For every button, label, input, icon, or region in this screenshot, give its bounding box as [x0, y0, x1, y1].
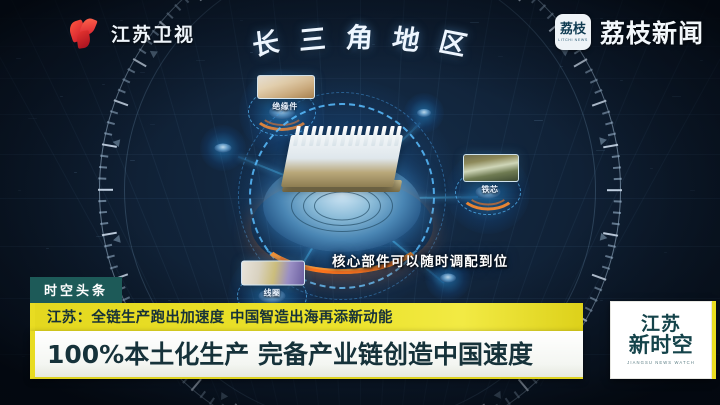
broadcast-screen: 绝缘件 铁芯 线圈 核心部件可以随时调配到位 长三角地区 江苏卫视 荔枝 LIT… — [0, 0, 720, 405]
program-badge-romanization: JIANGSU NEWS WATCH — [627, 360, 695, 365]
scene-title-char: 地 — [390, 17, 423, 58]
lower-third: 时空头条 江苏：全链生产跑出加速度 中国智造出海再添新动能 100%本土化生产 … — [30, 277, 583, 379]
lower-third-headline: 100%本土化生产 完备产业链创造中国速度 — [30, 331, 583, 379]
callout-insulation-image — [257, 75, 315, 99]
scene-title-char: 区 — [435, 20, 472, 63]
scene-title-char: 角 — [345, 16, 375, 55]
core-fin-stack — [281, 135, 403, 187]
news-logo-mark-sub: LITCHI NEWS — [558, 38, 588, 42]
callout-insulation-label: 绝缘件 — [272, 101, 298, 112]
news-logo-mark: 荔枝 LITCHI NEWS — [555, 14, 591, 50]
flame-icon — [68, 16, 102, 50]
program-badge-line2: 新时空 — [629, 335, 694, 357]
center-caption: 核心部件可以随时调配到位 — [332, 250, 508, 270]
program-badge-line1: 江苏 — [641, 315, 681, 335]
callout-insulation[interactable]: 绝缘件 — [257, 75, 313, 97]
news-logo: 荔枝 LITCHI NEWS 荔枝新闻 — [555, 14, 704, 50]
scene-title: 长三角地区 — [222, 6, 502, 58]
scene-title-char: 长 — [250, 20, 281, 64]
news-logo-mark-text: 荔枝 — [560, 23, 586, 36]
lower-third-subtitle: 江苏：全链生产跑出加速度 中国智造出海再添新动能 — [30, 303, 583, 331]
callout-iron-core[interactable]: 铁芯 — [463, 154, 517, 180]
channel-logo-label: 江苏卫视 — [111, 20, 195, 47]
lower-third-kicker: 时空头条 — [30, 277, 122, 303]
scene-title-char: 三 — [299, 17, 327, 59]
news-logo-label: 荔枝新闻 — [600, 14, 704, 50]
program-badge: 江苏 新时空 JIANGSU NEWS WATCH — [610, 301, 712, 379]
callout-iron-core-image — [463, 154, 519, 182]
callout-iron-core-label: 铁芯 — [482, 184, 499, 195]
channel-logo: 江苏卫视 — [68, 16, 195, 50]
